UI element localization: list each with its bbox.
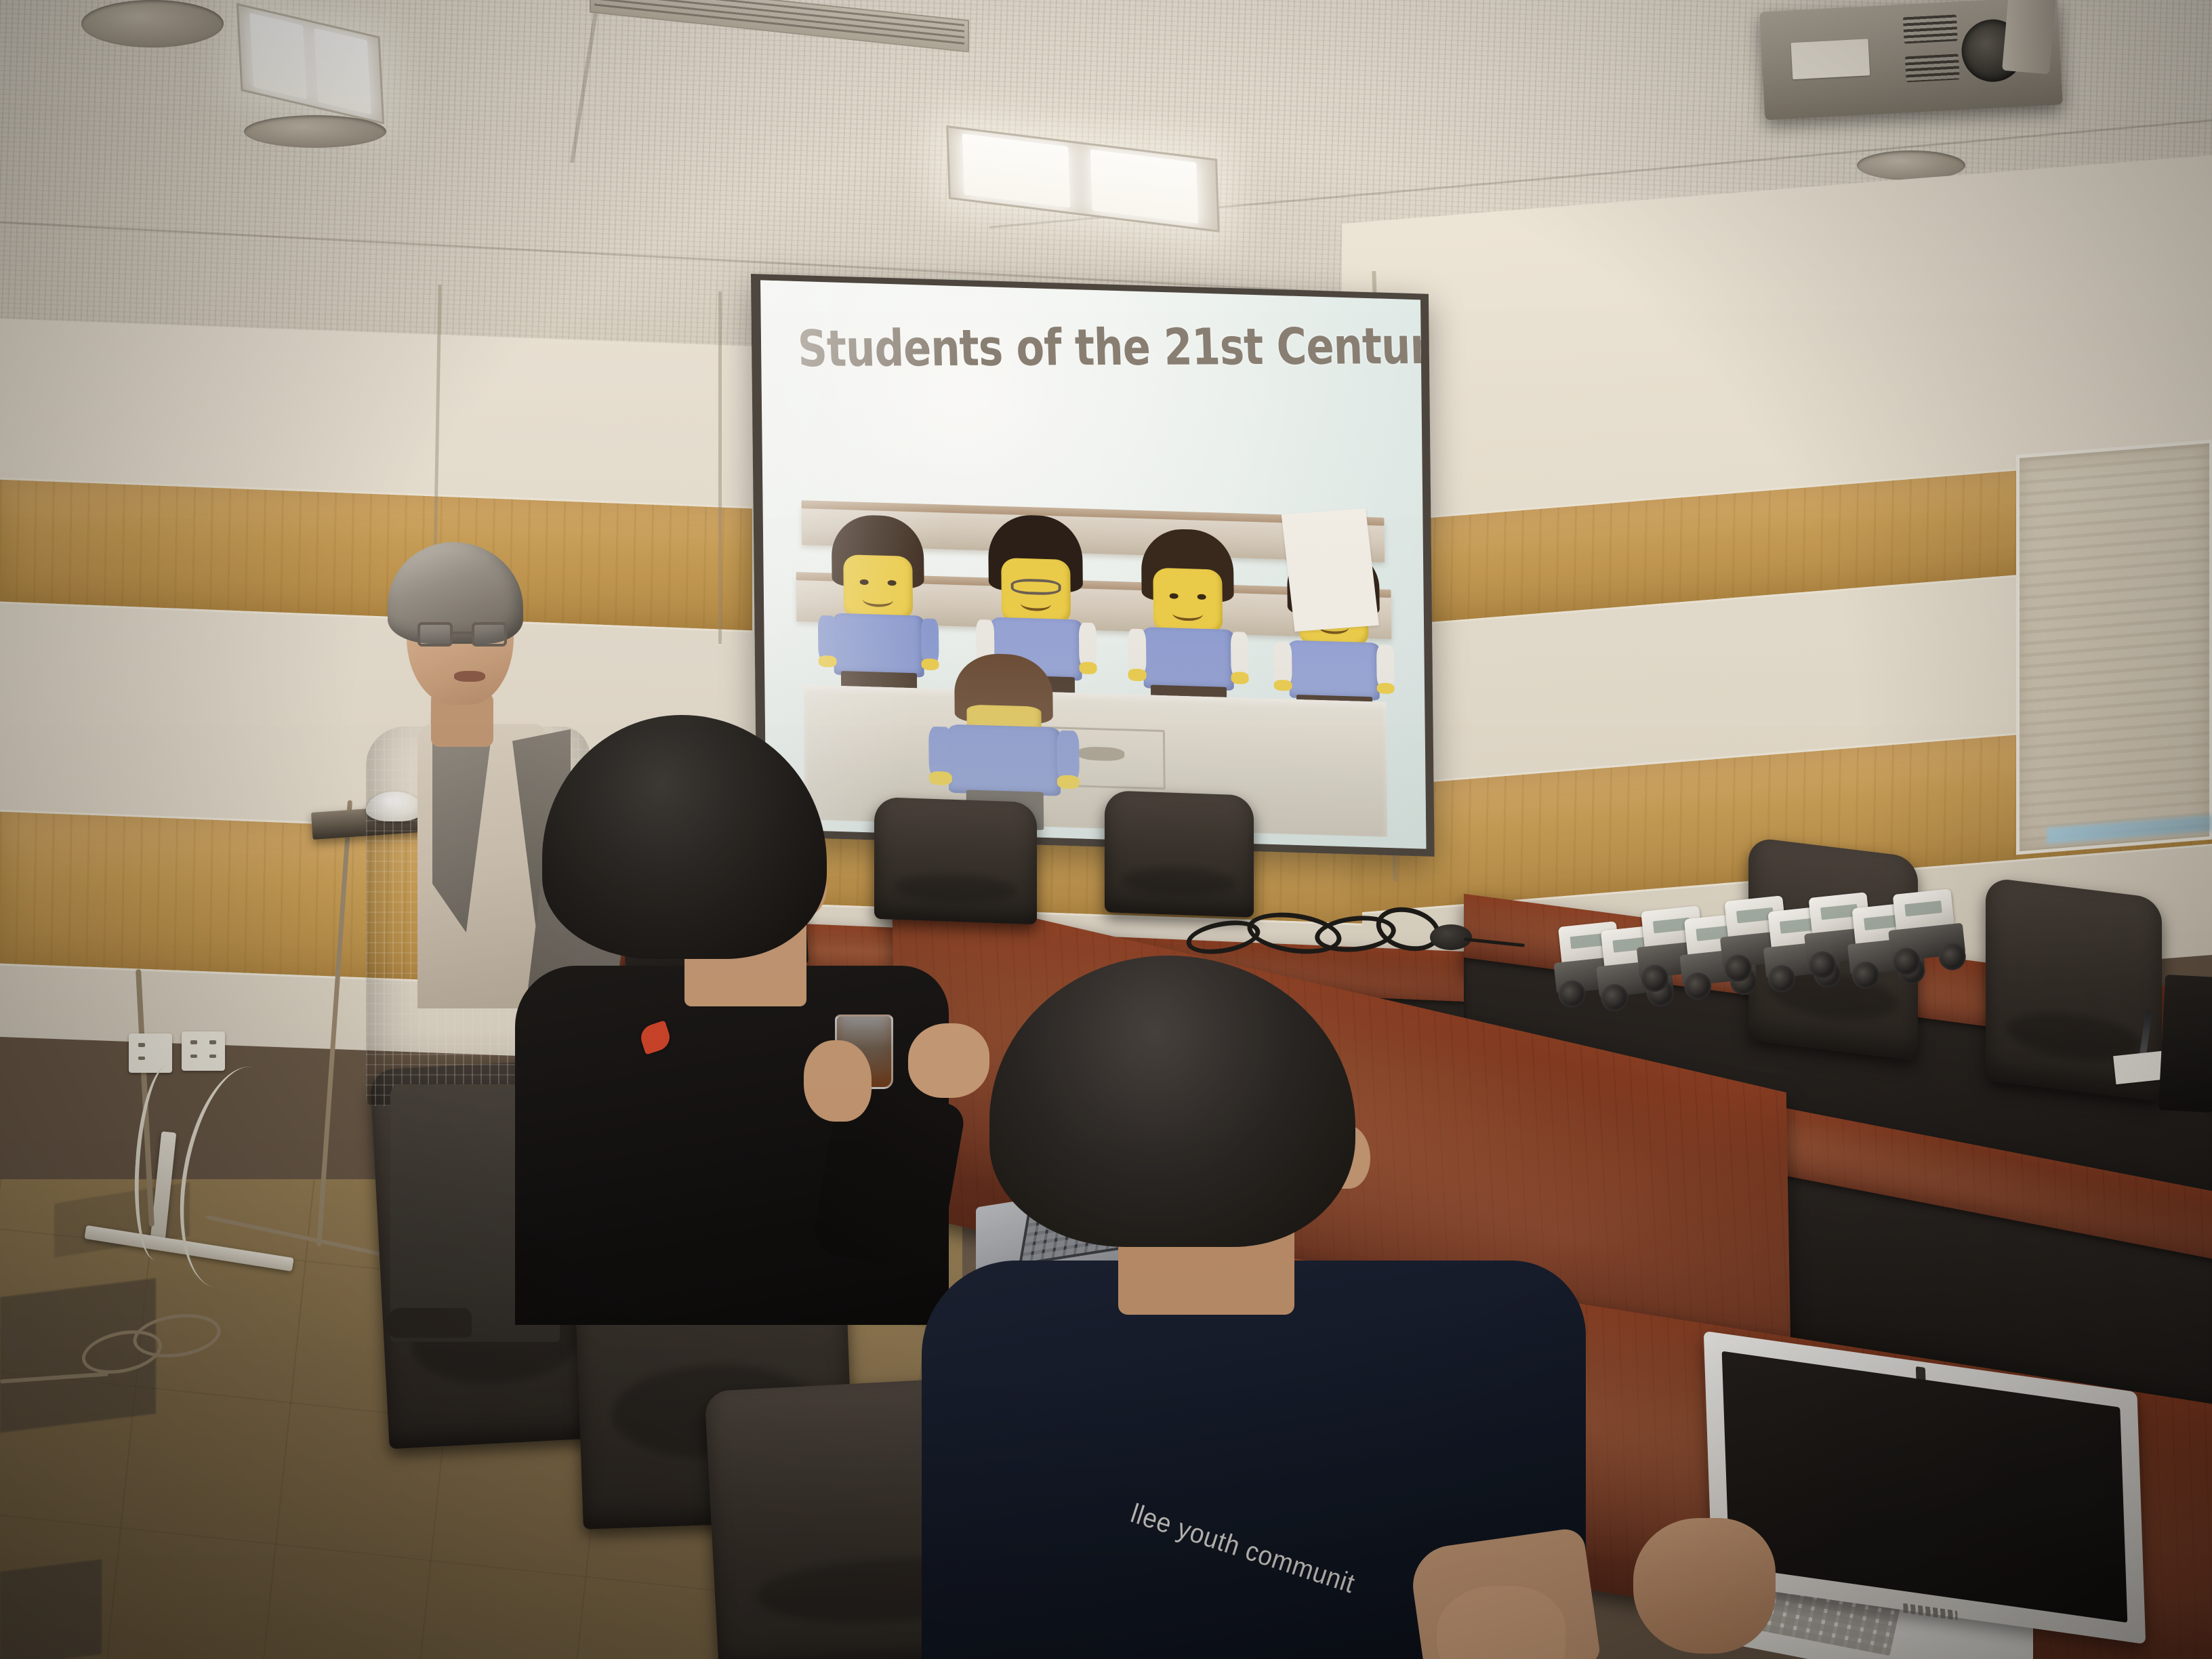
lego-minifig bbox=[1273, 384, 1370, 386]
photo-scene: Students of the 21st Century bbox=[0, 0, 2212, 1659]
attendee-navy-shirt: llee youth communit bbox=[949, 956, 1532, 1659]
ceiling-speaker-icon bbox=[244, 115, 386, 148]
white-laptop[interactable] bbox=[1708, 1362, 2209, 1659]
chair-back-2[interactable] bbox=[1105, 790, 1254, 918]
attendee-hair bbox=[542, 715, 827, 959]
ceiling-speaker-icon bbox=[81, 0, 224, 47]
window-with-blind bbox=[2016, 440, 2212, 855]
lego-minifig bbox=[1103, 378, 1194, 381]
presenter-mouth bbox=[454, 671, 485, 682]
lego-paper bbox=[1282, 508, 1379, 631]
laptop-screen bbox=[1722, 1351, 2128, 1623]
projector bbox=[1759, 0, 2063, 120]
presenter-shoe bbox=[385, 1308, 472, 1338]
glasses-icon bbox=[417, 622, 507, 649]
slide-title: Students of the 21st Century bbox=[796, 316, 1426, 377]
attendee-hair bbox=[989, 956, 1355, 1247]
lego-minifig bbox=[1249, 382, 1340, 385]
power-outlet-2[interactable] bbox=[182, 1031, 225, 1071]
attendee-hand bbox=[1633, 1518, 1776, 1654]
lego-minifig bbox=[1128, 379, 1225, 382]
robot bbox=[1882, 888, 1970, 977]
lego-minifig-3 bbox=[1129, 527, 1246, 711]
attendee-hand-holding-glass bbox=[804, 1040, 872, 1122]
tablet-stand bbox=[2158, 975, 2212, 1113]
wall-seam bbox=[718, 291, 722, 644]
attendee-black-shirt bbox=[515, 715, 949, 1325]
lego-minifig-1 bbox=[819, 514, 937, 697]
floor-tile bbox=[0, 1559, 102, 1659]
